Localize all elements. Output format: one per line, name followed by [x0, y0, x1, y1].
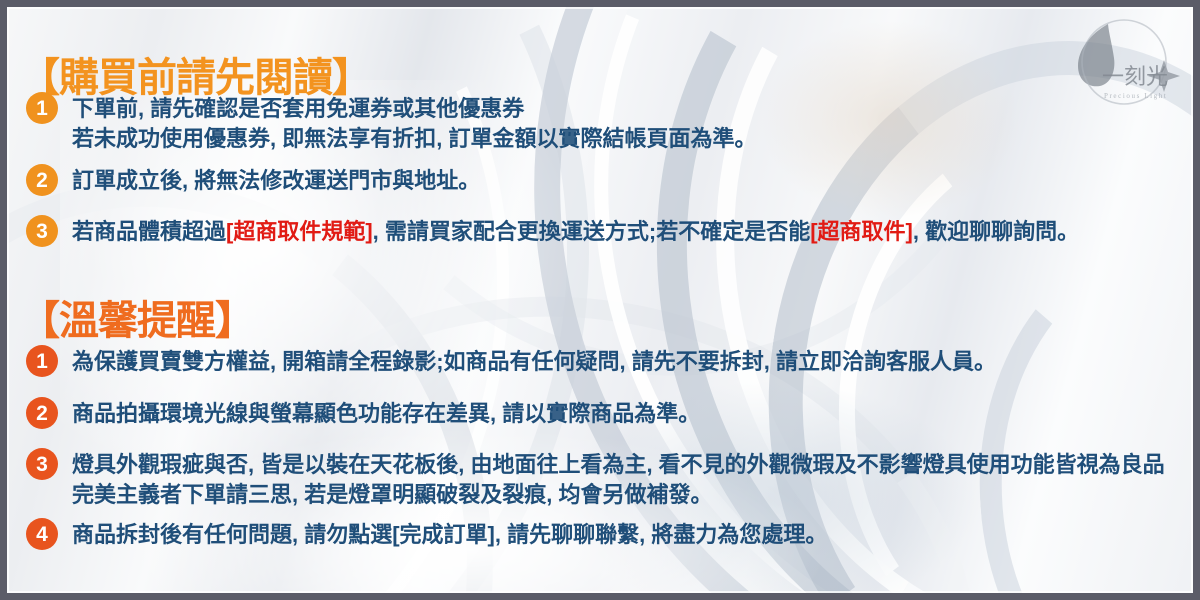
list-item: 3 燈具外觀瑕疵與否, 皆是以裝在天花板後, 由地面往上看為主, 看不見的外觀微…	[26, 448, 1165, 509]
item-line: 若商品體積超過[超商取件規範], 需請買家配合更換運送方式;若不確定是否能[超商…	[72, 217, 1079, 247]
item-line: 下單前, 請先確認是否套用免運券或其他優惠券	[72, 94, 756, 124]
item-number-badge: 3	[26, 215, 58, 247]
item-line: 為保護買賣雙方權益, 開箱請全程錄影;如商品有任何疑問, 請先不要拆封, 請立即…	[72, 347, 996, 377]
item-text: 商品拆封後有任何問題, 請勿點選[完成訂單], 請先聊聊聯繫, 將盡力為您處理。	[72, 518, 827, 550]
highlight-run: [超商取件]	[810, 219, 913, 244]
list-item: 1 為保護買賣雙方權益, 開箱請全程錄影;如商品有任何疑問, 請先不要拆封, 請…	[26, 345, 996, 377]
item-line: 訂單成立後, 將無法修改運送門市與地址。	[72, 166, 480, 196]
section-title-friendly-reminder: 【溫馨提醒】	[20, 301, 254, 341]
list-item: 2 商品拍攝環境光線與螢幕顯色功能存在差異, 請以實際商品為準。	[26, 397, 700, 429]
item-text: 訂單成立後, 將無法修改運送門市與地址。	[72, 164, 480, 196]
item-line: 商品拍攝環境光線與螢幕顯色功能存在差異, 請以實際商品為準。	[72, 399, 700, 429]
list-item: 3 若商品體積超過[超商取件規範], 需請買家配合更換運送方式;若不確定是否能[…	[26, 215, 1079, 247]
item-number-badge: 1	[26, 345, 58, 377]
item-line: 完美主義者下單請三思, 若是燈罩明顯破裂及裂痕, 均會另做補發。	[72, 480, 1165, 510]
item-number-badge: 1	[26, 92, 58, 124]
item-number-badge: 2	[26, 164, 58, 196]
list-item: 2 訂單成立後, 將無法修改運送門市與地址。	[26, 164, 480, 196]
item-text: 燈具外觀瑕疵與否, 皆是以裝在天花板後, 由地面往上看為主, 看不見的外觀微瑕及…	[72, 448, 1165, 509]
content-area: 【購買前請先閱讀】 1 下單前, 請先確認是否套用免運券或其他優惠券 若未成功使…	[0, 0, 1200, 600]
promo-banner: 一刻光 Precious Light 【購買前請先閱讀】 1 下單前, 請先確認…	[0, 0, 1200, 600]
item-line: 商品拆封後有任何問題, 請勿點選[完成訂單], 請先聊聊聯繫, 將盡力為您處理。	[72, 520, 827, 550]
text-run: 若商品體積超過	[72, 219, 226, 244]
item-text: 若商品體積超過[超商取件規範], 需請買家配合更換運送方式;若不確定是否能[超商…	[72, 215, 1079, 247]
item-line: 燈具外觀瑕疵與否, 皆是以裝在天花板後, 由地面往上看為主, 看不見的外觀微瑕及…	[72, 450, 1165, 480]
highlight-run: [超商取件規範]	[226, 219, 373, 244]
item-number-badge: 2	[26, 397, 58, 429]
item-text: 下單前, 請先確認是否套用免運券或其他優惠券 若未成功使用優惠券, 即無法享有折…	[72, 92, 756, 153]
item-number-badge: 4	[26, 518, 58, 550]
item-text: 商品拍攝環境光線與螢幕顯色功能存在差異, 請以實際商品為準。	[72, 397, 700, 429]
item-line: 若未成功使用優惠券, 即無法享有折扣, 訂單金額以實際結帳頁面為準。	[72, 124, 756, 154]
text-run: , 歡迎聊聊詢問。	[913, 219, 1079, 244]
item-number-badge: 3	[26, 448, 58, 480]
list-item: 4 商品拆封後有任何問題, 請勿點選[完成訂單], 請先聊聊聯繫, 將盡力為您處…	[26, 518, 827, 550]
item-text: 為保護買賣雙方權益, 開箱請全程錄影;如商品有任何疑問, 請先不要拆封, 請立即…	[72, 345, 996, 377]
list-item: 1 下單前, 請先確認是否套用免運券或其他優惠券 若未成功使用優惠券, 即無法享…	[26, 92, 756, 153]
text-run: , 需請買家配合更換運送方式;若不確定是否能	[373, 219, 811, 244]
